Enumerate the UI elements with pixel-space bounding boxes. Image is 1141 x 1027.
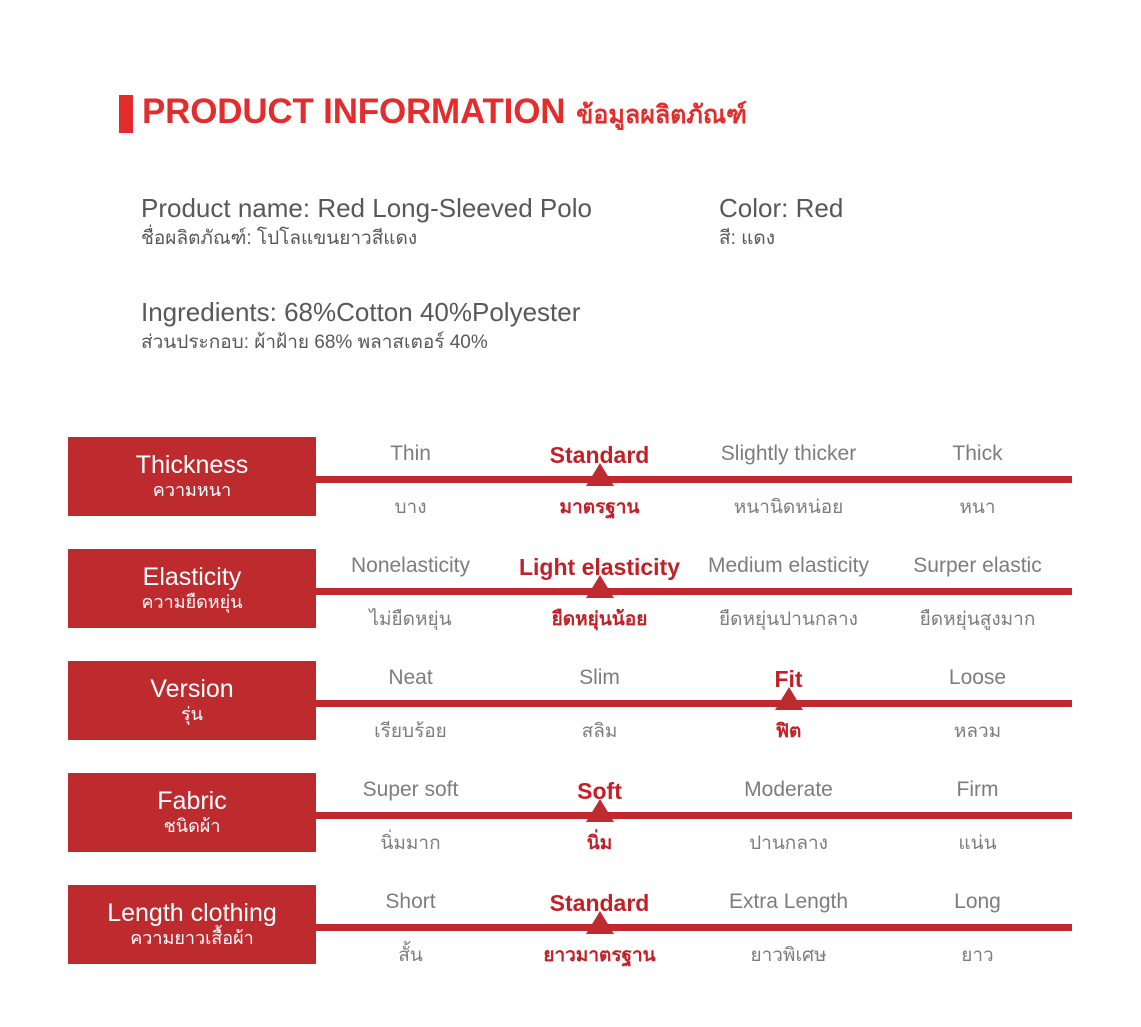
scale-option[interactable]: Light elasticityยืดหยุ่นน้อย [505,549,694,661]
scale-option-en: Nonelasticity [351,554,470,578]
scale-option[interactable]: Looseหลวม [883,661,1072,773]
selected-marker-triangle-icon [586,463,614,486]
spec-label-en: Version [150,676,233,703]
spec-label-en: Thickness [136,452,249,479]
scale-option-th: ไม่ยืดหยุ่น [369,604,451,634]
scale-option-th: นิ่ม [587,828,613,858]
scale-option-th: สลิม [582,716,618,746]
scale-option-th: นิ่มมาก [380,828,440,858]
spec-scale-list: ThicknessความหนาThinบางStandardมาตรฐานSl… [0,437,1141,997]
spec-label-th: ความยืดหยุ่น [141,592,242,613]
spec-label-version: Versionรุ่น [68,661,316,740]
scale-option-th: มาตรฐาน [560,492,640,522]
spec-row: Fabricชนิดผ้าSuper softนิ่มมากSoftนิ่มMo… [0,773,1141,885]
spec-label-th: ชนิดผ้า [164,816,221,837]
spec-label-elasticity: Elasticityความยืดหยุ่น [68,549,316,628]
info-row-ingredients: Ingredients: 68%Cotton 40%Polyester ส่วน… [141,296,580,356]
spec-label-en: Fabric [157,788,226,815]
scale-columns: Nonelasticityไม่ยืดหยุ่นLight elasticity… [316,549,1072,661]
scale-option-th: ยาว [961,940,993,970]
scale-option-en: Long [954,890,1001,914]
scale-columns: Super softนิ่มมากSoftนิ่มModerateปานกลาง… [316,773,1072,885]
spec-label-fabric: Fabricชนิดผ้า [68,773,316,852]
info-ingredients: Ingredients: 68%Cotton 40%Polyester ส่วน… [141,296,580,356]
scale-columns: Neatเรียบร้อยSlimสลิมFitฟิตLooseหลวม [316,661,1072,773]
scale-option[interactable]: Nonelasticityไม่ยืดหยุ่น [316,549,505,661]
spec-row: Length clothingความยาวเสื้อผ้าShortสั้นS… [0,885,1141,997]
scale-option-th: เรียบร้อย [374,716,447,746]
scale-option[interactable]: Super softนิ่มมาก [316,773,505,885]
page-title-th: ข้อมูลผลิตภัณฑ์ [576,103,747,128]
scale-option[interactable]: Softนิ่ม [505,773,694,885]
scale-option[interactable]: Extra Lengthยาวพิเศษ [694,885,883,997]
header-accent-bar [119,95,133,133]
spec-row: ThicknessความหนาThinบางStandardมาตรฐานSl… [0,437,1141,549]
scale-option-th: ยาวมาตรฐาน [543,940,655,970]
scale-option[interactable]: Moderateปานกลาง [694,773,883,885]
spec-label-th: รุ่น [181,704,203,725]
spec-row: Elasticityความยืดหยุ่นNonelasticityไม่ยื… [0,549,1141,661]
selected-marker-triangle-icon [586,575,614,598]
info-product-name: Product name: Red Long-Sleeved Polo ชื่อ… [141,192,719,252]
scale-option[interactable]: Neatเรียบร้อย [316,661,505,773]
product-name-en: Product name: Red Long-Sleeved Polo [141,192,719,225]
info-row-name-color: Product name: Red Long-Sleeved Polo ชื่อ… [141,192,843,252]
scale-option-en: Moderate [744,778,833,802]
scale-option-en: Short [385,890,435,914]
scale-option-th: ยืดหยุ่นปานกลาง [719,604,858,634]
spec-label-thickness: Thicknessความหนา [68,437,316,516]
spec-scale: Shortสั้นStandardยาวมาตรฐานExtra Lengthย… [316,885,1072,997]
scale-option[interactable]: Fitฟิต [694,661,883,773]
scale-option[interactable]: Slimสลิม [505,661,694,773]
spec-label-length-clothing: Length clothingความยาวเสื้อผ้า [68,885,316,964]
scale-option[interactable]: Thinบาง [316,437,505,549]
scale-option-en: Slim [579,666,620,690]
scale-option[interactable]: Surper elasticยืดหยุ่นสูงมาก [883,549,1072,661]
scale-option-th: ยืดหยุ่นน้อย [552,604,648,634]
scale-option-th: สั้น [398,940,423,970]
scale-option-th: ปานกลาง [749,828,828,858]
scale-option-th: หนานิดหน่อย [734,492,844,522]
spec-label-th: ความยาวเสื้อผ้า [130,928,254,949]
scale-option-th: หนา [959,492,995,522]
scale-option[interactable]: Standardยาวมาตรฐาน [505,885,694,997]
ingredients-th: ส่วนประกอบ: ผ้าฝ้าย 68% พลาสเตอร์ 40% [141,331,580,356]
selected-marker-triangle-icon [586,799,614,822]
scale-option-en: Super soft [363,778,459,802]
spec-scale: Super softนิ่มมากSoftนิ่มModerateปานกลาง… [316,773,1072,885]
scale-columns: ThinบางStandardมาตรฐานSlightly thickerหน… [316,437,1072,549]
scale-option-th: ยืดหยุ่นสูงมาก [920,604,1036,634]
scale-option[interactable]: Standardมาตรฐาน [505,437,694,549]
scale-option-en: Surper elastic [913,554,1041,578]
scale-option-en: Medium elasticity [708,554,869,578]
scale-option[interactable]: Longยาว [883,885,1072,997]
page-header: PRODUCT INFORMATION ข้อมูลผลิตภัณฑ์ [119,94,747,132]
spec-scale: ThinบางStandardมาตรฐานSlightly thickerหน… [316,437,1072,549]
product-name-th: ชื่อผลิตภัณฑ์: โปโลแขนยาวสีแดง [141,227,719,252]
scale-option[interactable]: Firmแน่น [883,773,1072,885]
scale-option-th: บาง [394,492,426,522]
scale-option[interactable]: Shortสั้น [316,885,505,997]
scale-option-en: Thin [390,442,431,466]
selected-marker-triangle-icon [586,911,614,934]
selected-marker-triangle-icon [775,687,803,710]
scale-option[interactable]: Thickหนา [883,437,1072,549]
scale-option-th: ฟิต [776,716,802,746]
spec-label-en: Elasticity [143,564,242,591]
scale-option-en: Loose [949,666,1006,690]
spec-scale: Neatเรียบร้อยSlimสลิมFitฟิตLooseหลวม [316,661,1072,773]
spec-label-th: ความหนา [153,480,231,501]
color-th: สี: แดง [719,227,843,252]
scale-option-en: Thick [952,442,1002,466]
scale-option-en: Extra Length [729,890,848,914]
spec-label-en: Length clothing [107,900,277,927]
scale-option-en: Firm [957,778,999,802]
scale-option-en: Neat [388,666,432,690]
spec-scale: Nonelasticityไม่ยืดหยุ่นLight elasticity… [316,549,1072,661]
scale-option[interactable]: Slightly thickerหนานิดหน่อย [694,437,883,549]
scale-option[interactable]: Medium elasticityยืดหยุ่นปานกลาง [694,549,883,661]
spec-row: Versionรุ่นNeatเรียบร้อยSlimสลิมFitฟิตLo… [0,661,1141,773]
ingredients-en: Ingredients: 68%Cotton 40%Polyester [141,296,580,329]
scale-option-en: Slightly thicker [721,442,856,466]
scale-option-th: หลวม [954,716,1001,746]
page-title-en: PRODUCT INFORMATION [142,94,565,129]
scale-columns: Shortสั้นStandardยาวมาตรฐานExtra Lengthย… [316,885,1072,997]
scale-option-th: แน่น [958,828,996,858]
scale-option-th: ยาวพิเศษ [750,940,826,970]
color-en: Color: Red [719,192,843,225]
info-color: Color: Red สี: แดง [719,192,843,252]
